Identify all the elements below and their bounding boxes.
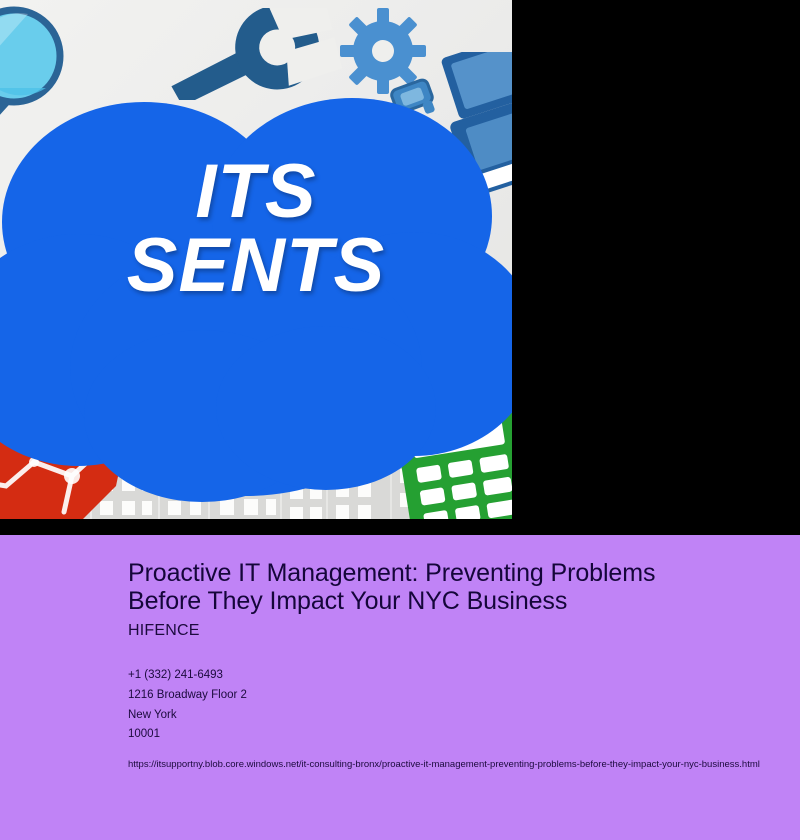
contact-phone: +1 (332) 241-6493	[128, 666, 788, 686]
contact-city: New York	[128, 706, 788, 726]
cloud-shape	[0, 82, 512, 502]
contact-block: +1 (332) 241-6493 1216 Broadway Floor 2 …	[128, 666, 788, 745]
page-title: Proactive IT Management: Preventing Prob…	[128, 559, 718, 615]
info-content: Proactive IT Management: Preventing Prob…	[128, 559, 788, 775]
source-url[interactable]: https://itsupportny.blob.core.windows.ne…	[128, 755, 788, 775]
contact-postal-code: 10001	[128, 725, 788, 745]
info-panel: Proactive IT Management: Preventing Prob…	[0, 535, 800, 840]
hero-image: ITS SENTS	[0, 0, 512, 519]
contact-street: 1216 Broadway Floor 2	[128, 686, 788, 706]
brand-name: HIFENCE	[128, 622, 788, 640]
page-root: ITS SENTS Proactive IT Management: Preve…	[0, 0, 800, 840]
